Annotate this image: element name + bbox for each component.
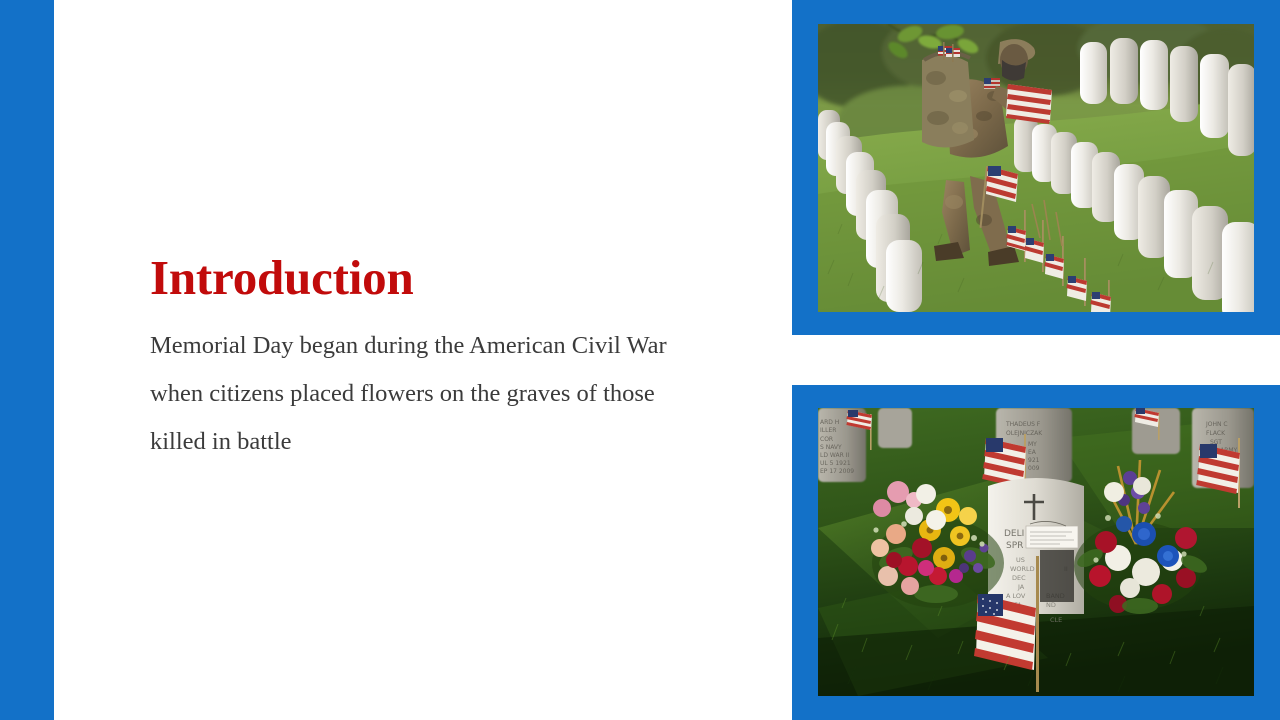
svg-text:COR: COR (820, 436, 833, 443)
left-accent-bar (0, 0, 54, 720)
svg-text:CLE: CLE (1050, 616, 1062, 624)
svg-text:EA: EA (1028, 449, 1037, 456)
svg-text:US: US (1016, 556, 1025, 564)
svg-text:FLACK: FLACK (1206, 430, 1226, 437)
slide-body-text: Memorial Day began during the American C… (150, 322, 698, 466)
slide-text-block: Introduction Memorial Day began during t… (150, 252, 710, 466)
photo-frame-bottom: ARD H ILLER COR S NAVY LD WAR II UL 5 19… (818, 408, 1254, 696)
photo-panel-bottom: ARD H ILLER COR S NAVY LD WAR II UL 5 19… (792, 385, 1280, 720)
page-title: Introduction (150, 252, 710, 305)
svg-text:ND: ND (1046, 601, 1056, 609)
svg-text:MY: MY (1028, 441, 1037, 448)
svg-text:921: 921 (1028, 457, 1040, 464)
svg-text:009: 009 (1028, 465, 1040, 472)
svg-text:ILLER: ILLER (820, 427, 836, 434)
svg-text:UL 5 1921: UL 5 1921 (820, 460, 851, 467)
svg-text:DEC: DEC (1012, 574, 1026, 582)
svg-text:JOHN C: JOHN C (1205, 421, 1228, 428)
svg-text:EP 17 2009: EP 17 2009 (820, 468, 854, 475)
svg-text:THADEUS F: THADEUS F (1005, 421, 1041, 428)
photo-panel-top (792, 0, 1280, 335)
image-grave-with-flowers-and-flags: ARD H ILLER COR S NAVY LD WAR II UL 5 19… (818, 408, 1254, 696)
image-soldier-placing-flags (818, 24, 1254, 312)
svg-text:S NAVY: S NAVY (820, 444, 842, 451)
svg-text:JA: JA (1017, 583, 1025, 591)
svg-text:ARD H: ARD H (820, 419, 839, 426)
svg-text:DELI: DELI (1004, 529, 1024, 539)
svg-text:WORLD: WORLD (1010, 565, 1035, 573)
photo-frame-top (818, 24, 1254, 312)
svg-text:LD WAR II: LD WAR II (820, 452, 849, 459)
svg-text:A LOV: A LOV (1006, 592, 1026, 600)
svg-text:SPR: SPR (1006, 541, 1023, 551)
presentation-slide: Introduction Memorial Day began during t… (0, 0, 1280, 720)
